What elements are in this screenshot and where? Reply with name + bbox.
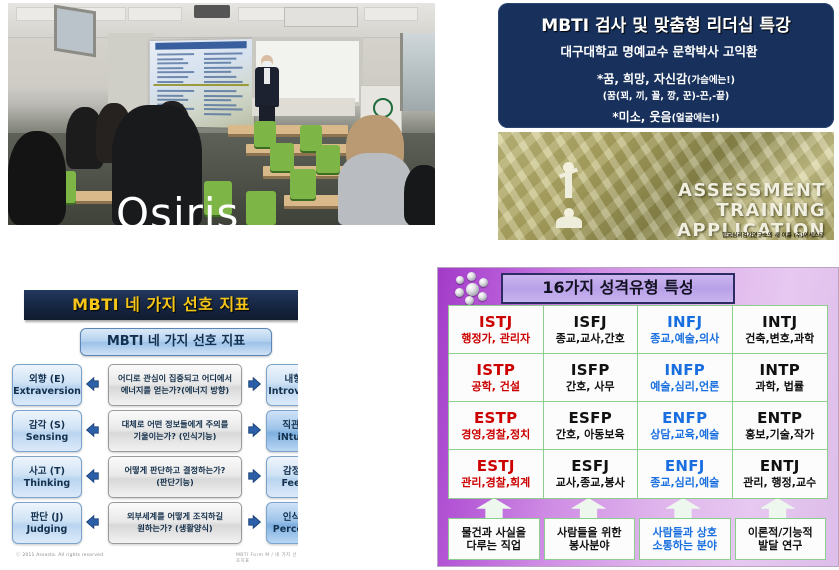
assessment-line-2: TRAINING — [716, 200, 826, 221]
chair — [316, 145, 340, 173]
preference-left-judging[interactable]: 판단 (J)Judging — [12, 502, 82, 544]
wall-picture-frame — [54, 5, 96, 58]
sixteen-types-title-label: 16가지 성격유형 특성 — [503, 275, 733, 300]
preference-right-introversion[interactable]: 내향 (I)Introversion — [266, 364, 298, 406]
type-cell-isfp[interactable]: ISFP간호, 사무 — [544, 354, 639, 402]
type-code: INTP — [759, 363, 800, 379]
type-description: 경영,경찰,정치 — [461, 429, 530, 441]
type-cell-infp[interactable]: INFP예술,심리,언론 — [638, 354, 733, 402]
type-description: 공학, 건설 — [472, 381, 521, 393]
type-description: 교사,종교,봉사 — [556, 477, 625, 489]
type-cell-entp[interactable]: ENTP홍보,기술,작가 — [733, 402, 828, 450]
type-code: ESFJ — [571, 459, 609, 475]
preference-question: 어떻게 판단하고 결정하는가?(판단기능) — [108, 456, 242, 498]
chair — [290, 169, 316, 199]
desk — [228, 125, 348, 137]
assessment-line-1: ASSESSMENT — [678, 180, 826, 201]
classroom-lecture-photo: Osiris — [8, 3, 435, 225]
preference-question-text: 어떻게 판단하고 결정하는가?(판단기능) — [122, 465, 229, 489]
lecturer-figure — [255, 55, 279, 128]
preference-question: 대체로 어떤 정보들에게 주의를기울이는가? (인식기능) — [108, 410, 242, 452]
type-description: 건축,변호,과학 — [745, 333, 814, 345]
type-cell-istp[interactable]: ISTP공학, 건설 — [449, 354, 544, 402]
sixteen-types-slide: 16가지 성격유형 특성 ISTJ행정가, 관리자ISFJ종교,교사,간호INF… — [437, 267, 839, 567]
category-box[interactable]: 사람들과 상호소통하는 분야 — [639, 518, 731, 560]
type-code: ENFP — [662, 411, 707, 427]
type-description: 관리,경찰,회계 — [461, 477, 530, 489]
preference-question-text: 외부세계를 어떻게 조직하길원하는가? (생활양식) — [124, 511, 226, 535]
type-cell-esfp[interactable]: ESFP간호, 아동보육 — [544, 402, 639, 450]
preference-question-text: 대체로 어떤 정보들에게 주의를기울이는가? (인식기능) — [119, 419, 231, 443]
bullet-line-2: (꿈(꾀, 끼, 꼴, 깡, 꾼)-끈,-끝) — [498, 88, 834, 102]
type-cell-isfj[interactable]: ISFJ종교,교사,간호 — [544, 306, 639, 354]
preference-right-en: Feeling — [267, 478, 298, 489]
bullet-line-1: *꿈, 희망, 자신감(가슴에는!) — [498, 70, 834, 87]
preference-question: 외부세계를 어떻게 조직하길원하는가? (생활양식) — [108, 502, 242, 544]
preference-right-kr: 직관 (N) — [267, 417, 298, 431]
preference-right-kr: 감정 (F) — [267, 463, 298, 477]
assessment-caption: 한국심리검사연구소의 새 이름 (주)어세스타 — [722, 231, 824, 239]
preference-row: 사고 (T)Thinking어떻게 판단하고 결정하는가?(판단기능)감정 (F… — [8, 456, 298, 496]
type-cell-estj[interactable]: ESTJ관리,경찰,회계 — [449, 450, 544, 498]
preference-right-intuition[interactable]: 직관 (N)iNtuition — [266, 410, 298, 452]
type-description: 종교,심리,예술 — [650, 477, 719, 489]
up-arrow-row — [448, 498, 826, 520]
chair — [270, 143, 294, 171]
preference-right-kr: 내향 (I) — [267, 371, 298, 385]
type-cell-entj[interactable]: ENTJ관리, 행정,교수 — [733, 450, 828, 498]
type-code: ENTP — [757, 411, 802, 427]
type-code: ESFP — [569, 411, 613, 427]
figure-crouching-icon — [556, 208, 582, 228]
type-description: 간호, 사무 — [566, 381, 615, 393]
type-code: INFJ — [667, 315, 702, 331]
preference-right-perceiving[interactable]: 인식 (P)Perceiving — [266, 502, 298, 544]
arrow-left-icon — [83, 375, 101, 393]
type-description: 종교,예술,의사 — [650, 333, 719, 345]
type-description: 상담,교육,예술 — [650, 429, 719, 441]
category-box[interactable]: 사람들을 위한봉사분야 — [544, 518, 636, 560]
copyright-footer-right: MBTI Form M / 네 가지 선호지표 — [236, 552, 298, 564]
photo-overlay-text: Osiris — [116, 189, 239, 225]
preference-left-en: Sensing — [13, 432, 81, 443]
student-grey-hoodie — [338, 153, 412, 225]
type-code: ENFJ — [665, 459, 705, 475]
four-preferences-slide: MBTI 네 가지 선호 지표 MBTI 네 가지 선호 지표 외향 (E)Ex… — [8, 290, 298, 564]
category-box-text: 사람들을 위한봉사분야 — [557, 526, 622, 553]
type-code: INFP — [664, 363, 705, 379]
preference-left-en: Thinking — [13, 478, 81, 489]
preference-left-kr: 감각 (S) — [13, 417, 81, 431]
preference-row: 외향 (E)Extraversion어디로 관심이 집중되고 어디에서에너지를 … — [8, 364, 298, 404]
preference-right-en: iNtuition — [267, 432, 298, 443]
student — [8, 131, 66, 225]
arrow-right-icon — [246, 421, 264, 439]
type-code: ISTP — [476, 363, 515, 379]
type-description: 간호, 아동보육 — [556, 429, 625, 441]
molecule-icon — [453, 272, 491, 306]
arrow-right-icon — [246, 375, 264, 393]
preference-left-en: Judging — [13, 524, 81, 535]
preference-left-extraversion[interactable]: 외향 (E)Extraversion — [12, 364, 82, 406]
type-code: ENTJ — [760, 459, 800, 475]
type-description: 관리, 행정,교수 — [743, 477, 816, 489]
four-preferences-subtitle-label: MBTI 네 가지 선호 지표 — [81, 329, 271, 355]
arrow-right-icon — [246, 513, 264, 531]
type-description: 예술,심리,언론 — [650, 381, 719, 393]
four-preferences-banner-label: MBTI 네 가지 선호 지표 — [24, 290, 298, 320]
preference-right-feeling[interactable]: 감정 (F)Feeling — [266, 456, 298, 498]
lecture-title-card: MBTI 검사 및 맞춤형 리더십 특강 대구대학교 명예교수 문학박사 고익환… — [498, 3, 834, 128]
type-cell-intp[interactable]: INTP과학, 법률 — [733, 354, 828, 402]
bullet-line-3: *미소, 웃음(얼굴에는!) — [498, 108, 834, 125]
type-description: 과학, 법률 — [756, 381, 805, 393]
type-code: ISTJ — [479, 315, 512, 331]
type-cell-enfj[interactable]: ENFJ종교,심리,예술 — [638, 450, 733, 498]
preference-left-sensing[interactable]: 감각 (S)Sensing — [12, 410, 82, 452]
lecture-heading: MBTI 검사 및 맞춤형 리더십 특강 — [498, 11, 834, 36]
type-code: ESTP — [474, 411, 517, 427]
ceiling-air-conditioner — [284, 7, 358, 27]
preference-row: 판단 (J)Judging외부세계를 어떻게 조직하길원하는가? (생활양식)인… — [8, 502, 298, 542]
preference-left-en: Extraversion — [13, 386, 81, 397]
preference-right-kr: 인식 (P) — [267, 509, 298, 523]
preference-question-text: 어디로 관심이 집중되고 어디에서에너지를 얻는가?(에너지 방향) — [115, 373, 235, 397]
ceiling-projector — [194, 5, 230, 18]
chair — [246, 191, 276, 225]
preference-left-kr: 외향 (E) — [13, 371, 81, 385]
arrow-left-icon — [83, 421, 101, 439]
arrow-left-icon — [83, 467, 101, 485]
type-cell-intj[interactable]: INTJ건축,변호,과학 — [733, 306, 828, 354]
type-cell-istj[interactable]: ISTJ행정가, 관리자 — [449, 306, 544, 354]
four-preferences-subtitle-box: MBTI 네 가지 선호 지표 — [80, 328, 272, 356]
lecture-speaker: 대구대학교 명예교수 문학박사 고익환 — [498, 41, 820, 60]
type-cell-infj[interactable]: INFJ종교,예술,의사 — [638, 306, 733, 354]
type-code: ISFP — [571, 363, 610, 379]
preference-right-en: Introversion — [267, 386, 298, 397]
type-code: ESTJ — [477, 459, 515, 475]
type-cell-estp[interactable]: ESTP경영,경찰,정치 — [449, 402, 544, 450]
type-code: ISFJ — [574, 315, 607, 331]
arrow-left-icon — [83, 513, 101, 531]
category-box-text: 사람들과 상호소통하는 분야 — [652, 526, 717, 553]
arrow-right-icon — [246, 467, 264, 485]
preference-right-en: Perceiving — [267, 524, 298, 535]
type-description: 종교,교사,간호 — [556, 333, 625, 345]
preference-row: 감각 (S)Sensing대체로 어떤 정보들에게 주의를기울이는가? (인식기… — [8, 410, 298, 450]
category-box[interactable]: 물건과 사실을다루는 직업 — [448, 518, 540, 560]
type-description: 행정가, 관리자 — [461, 333, 530, 345]
preference-left-thinking[interactable]: 사고 (T)Thinking — [12, 456, 82, 498]
category-box-text: 물건과 사실을다루는 직업 — [461, 526, 526, 553]
type-cell-enfp[interactable]: ENFP상담,교육,예술 — [638, 402, 733, 450]
category-box[interactable]: 이론적/기능적발달 연구 — [735, 518, 827, 560]
preference-left-kr: 사고 (T) — [13, 463, 81, 477]
student — [404, 165, 435, 225]
preference-left-kr: 판단 (J) — [13, 509, 81, 523]
type-cell-esfj[interactable]: ESFJ교사,종교,봉사 — [544, 450, 639, 498]
copyright-footer-left: ⓒ 2011 Assesta. All rights reserved. — [16, 552, 105, 558]
window — [400, 33, 435, 111]
type-description: 홍보,기술,작가 — [745, 429, 814, 441]
lecture-bullet-list: *꿈, 희망, 자신감(가슴에는!) (꿈(꾀, 끼, 꼴, 깡, 꾼)-끈,-… — [498, 70, 834, 128]
preference-question: 어디로 관심이 집중되고 어디에서에너지를 얻는가?(에너지 방향) — [108, 364, 242, 406]
category-box-row: 물건과 사실을다루는 직업사람들을 위한봉사분야사람들과 상호소통하는 분야이론… — [448, 518, 826, 560]
type-code: INTJ — [762, 315, 797, 331]
four-preferences-banner: MBTI 네 가지 선호 지표 — [24, 290, 298, 320]
category-box-text: 이론적/기능적발달 연구 — [748, 526, 813, 553]
sixteen-types-title-box: 16가지 성격유형 특성 — [501, 273, 735, 304]
types-grid: ISTJ행정가, 관리자ISFJ종교,교사,간호INFJ종교,예술,의사INTJ… — [448, 305, 828, 499]
assessment-banner-image: ASSESSMENT TRAINING APPLICATION 한국심리검사연구… — [498, 132, 834, 240]
